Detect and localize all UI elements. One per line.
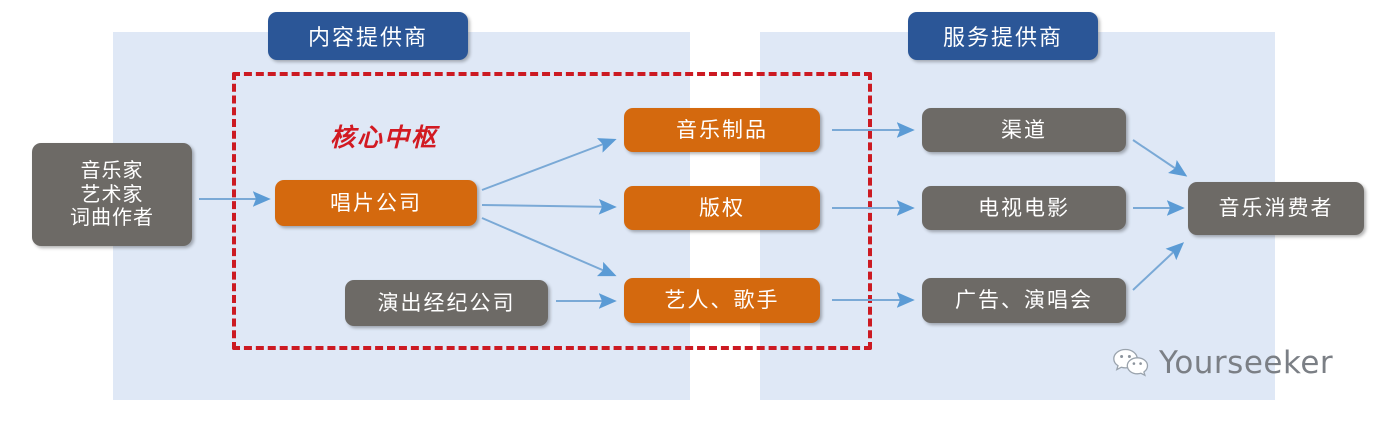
node-performance-agency: 演出经纪公司 <box>345 280 548 326</box>
core-hub-label: 核心中枢 <box>330 118 438 154</box>
node-label: 音乐制品 <box>676 118 768 143</box>
wechat-icon <box>1112 347 1150 380</box>
diagram-canvas: 内容提供商 服务提供商 核心中枢 音乐家 艺术家 词曲作者 唱片公司 演出经纪公… <box>0 0 1397 427</box>
edge-ads-concerts-to-consumers <box>1133 244 1182 290</box>
node-ads-concerts: 广告、演唱会 <box>922 278 1126 323</box>
node-label: 演出经纪公司 <box>378 291 516 316</box>
edge-label-company-to-copyright <box>482 205 614 207</box>
section-header-service-provider: 服务提供商 <box>908 12 1098 60</box>
node-channel: 渠道 <box>922 108 1126 152</box>
node-label: 版权 <box>699 196 745 221</box>
node-artists-singers: 艺人、歌手 <box>624 278 820 323</box>
node-creators-line-1: 音乐家 <box>81 159 144 183</box>
node-copyright: 版权 <box>624 186 820 230</box>
node-music-consumers: 音乐消费者 <box>1188 182 1364 235</box>
watermark: Yourseeker <box>1112 345 1333 381</box>
section-header-content-provider: 内容提供商 <box>268 12 468 60</box>
edge-label-company-to-artists <box>482 218 614 275</box>
node-label: 广告、演唱会 <box>955 288 1093 313</box>
node-creators: 音乐家 艺术家 词曲作者 <box>32 143 192 246</box>
node-label: 唱片公司 <box>330 191 422 216</box>
edge-label-company-to-music-products <box>482 140 614 190</box>
section-header-label: 内容提供商 <box>308 20 428 52</box>
node-label-company: 唱片公司 <box>275 180 477 226</box>
node-creators-line-2: 艺术家 <box>81 183 144 207</box>
node-label: 渠道 <box>1001 118 1047 143</box>
node-music-products: 音乐制品 <box>624 108 820 152</box>
edge-channel-to-consumers <box>1133 140 1185 175</box>
node-label: 音乐消费者 <box>1219 196 1334 221</box>
node-label: 电视电影 <box>978 196 1070 221</box>
node-label: 艺人、歌手 <box>665 288 780 313</box>
node-creators-line-3: 词曲作者 <box>70 206 154 230</box>
watermark-text: Yourseeker <box>1159 345 1333 381</box>
node-tv-film: 电视电影 <box>922 186 1126 230</box>
section-header-label: 服务提供商 <box>943 20 1063 52</box>
